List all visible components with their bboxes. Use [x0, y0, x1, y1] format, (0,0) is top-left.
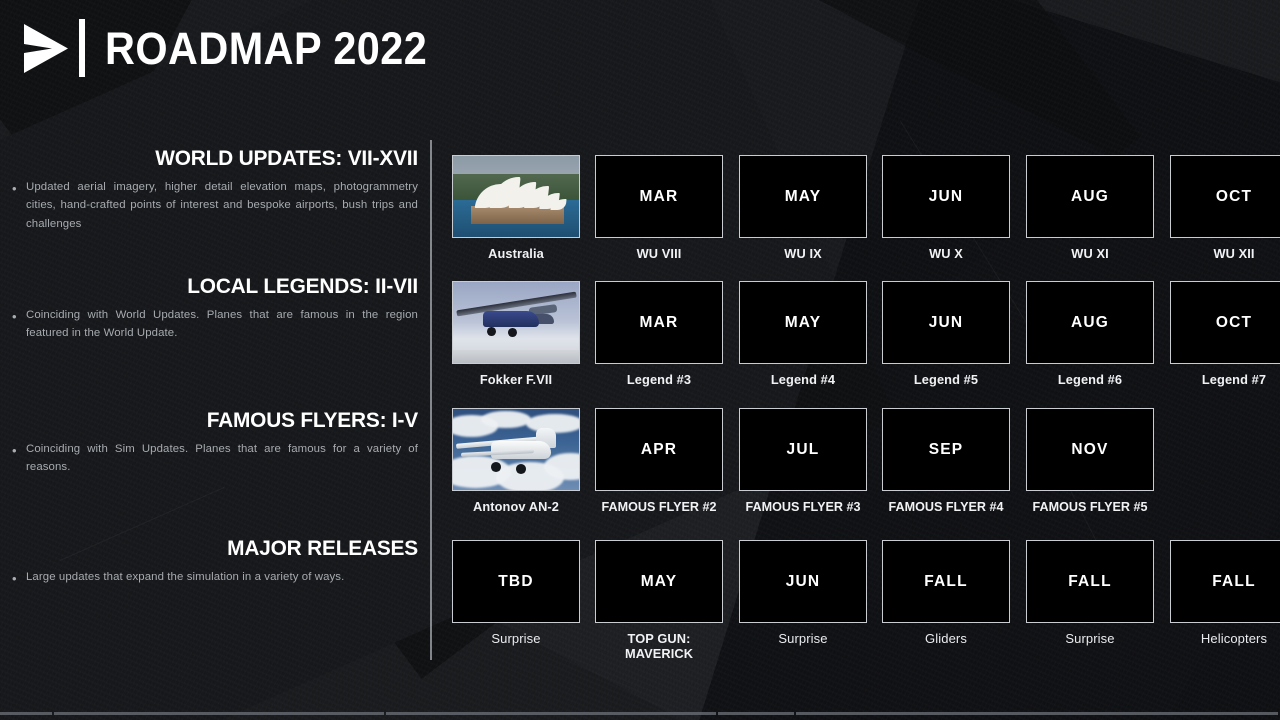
card-caption: Gliders	[882, 632, 1010, 647]
card-caption: FAMOUS FLYER #2	[595, 500, 723, 514]
card-month: AUG	[1071, 188, 1109, 206]
roadmap-card[interactable]: JUL	[739, 408, 867, 491]
bullet-icon: •	[0, 440, 26, 477]
roadmap-cell[interactable]: Fokker F.VII	[452, 281, 580, 388]
section-famous-flyers: FAMOUS FLYERS: I-V • Coinciding with Sim…	[0, 408, 430, 477]
roadmap-card[interactable]	[452, 281, 580, 364]
card-caption: WU VIII	[595, 247, 723, 262]
card-month: FALL	[924, 573, 968, 591]
roadmap-cell[interactable]: SEP FAMOUS FLYER #4	[882, 408, 1010, 514]
card-caption: WU XI	[1026, 247, 1154, 262]
roadmap-card[interactable]: AUG	[1026, 281, 1154, 364]
roadmap-card[interactable]: MAR	[595, 155, 723, 238]
roadmap-card[interactable]: JUN	[882, 155, 1010, 238]
roadmap-cell[interactable]: MAR WU VIII	[595, 155, 723, 262]
section-description: Updated aerial imagery, higher detail el…	[26, 178, 418, 233]
card-month: TBD	[498, 573, 533, 591]
roadmap-cell[interactable]: AUG Legend #6	[1026, 281, 1154, 388]
section-title: LOCAL LEGENDS: II-VII	[13, 274, 418, 299]
roadmap-cell[interactable]: MAR Legend #3	[595, 281, 723, 388]
card-caption: Legend #4	[739, 373, 867, 388]
roadmap-cell[interactable]: AUG WU XI	[1026, 155, 1154, 262]
progress-segment[interactable]	[54, 712, 384, 715]
roadmap-cell[interactable]: TBD Surprise	[452, 540, 580, 647]
roadmap-cell[interactable]: NOV FAMOUS FLYER #5	[1026, 408, 1154, 514]
roadmap-card[interactable]: FALL	[1026, 540, 1154, 623]
roadmap-cell[interactable]: JUN Legend #5	[882, 281, 1010, 388]
card-month: MAY	[785, 188, 822, 206]
progress-segment[interactable]	[718, 712, 794, 715]
roadmap-cell[interactable]: JUN Surprise	[739, 540, 867, 647]
roadmap-cell[interactable]: JUN WU X	[882, 155, 1010, 262]
card-caption: Legend #7	[1170, 373, 1280, 388]
progress-segment[interactable]	[386, 712, 716, 715]
roadmap-cell[interactable]: OCT Legend #7	[1170, 281, 1280, 388]
roadmap-card[interactable]	[452, 408, 580, 491]
card-caption: Legend #5	[882, 373, 1010, 388]
vertical-divider	[430, 140, 432, 660]
section-major-releases: MAJOR RELEASES • Large updates that expa…	[0, 536, 430, 586]
roadmap-cell[interactable]: FALL Surprise	[1026, 540, 1154, 647]
card-caption: FAMOUS FLYER #4	[882, 500, 1010, 514]
page-title: ROADMAP 2022	[105, 26, 427, 71]
section-title: MAJOR RELEASES	[13, 536, 418, 561]
roadmap-card[interactable]: TBD	[452, 540, 580, 623]
card-caption: Legend #3	[595, 373, 723, 388]
roadmap-card[interactable]: OCT	[1170, 281, 1280, 364]
chevron-right-icon	[18, 20, 70, 76]
section-title: FAMOUS FLYERS: I-V	[13, 408, 418, 433]
bullet-icon: •	[0, 568, 26, 586]
roadmap-cell[interactable]: Australia	[452, 155, 580, 262]
section-description: Coinciding with Sim Updates. Planes that…	[26, 440, 418, 477]
roadmap-cell[interactable]: OCT WU XII	[1170, 155, 1280, 262]
fokker-fvii-image	[453, 282, 579, 363]
roadmap-cell[interactable]: MAY WU IX	[739, 155, 867, 262]
roadmap-card[interactable]: APR	[595, 408, 723, 491]
bullet-icon: •	[0, 306, 26, 343]
card-caption: Australia	[452, 247, 580, 262]
legend-column: WORLD UPDATES: VII-XVII • Updated aerial…	[0, 118, 430, 678]
card-caption: WU XII	[1170, 247, 1280, 262]
card-month: FALL	[1068, 573, 1112, 591]
vertical-bar-icon	[79, 19, 85, 77]
card-caption: FAMOUS FLYER #5	[1026, 500, 1154, 514]
section-description: Coinciding with World Updates. Planes th…	[26, 306, 418, 343]
card-caption: Surprise	[1026, 632, 1154, 647]
section-local-legends: LOCAL LEGENDS: II-VII • Coinciding with …	[0, 274, 430, 343]
card-month: OCT	[1216, 188, 1252, 206]
roadmap-card[interactable]: OCT	[1170, 155, 1280, 238]
card-caption: Surprise	[452, 632, 580, 647]
card-caption: FAMOUS FLYER #3	[739, 500, 867, 514]
card-caption: TOP GUN: MAVERICK	[595, 632, 723, 661]
roadmap-card[interactable]: AUG	[1026, 155, 1154, 238]
roadmap-card[interactable]: MAY	[595, 540, 723, 623]
roadmap-cell[interactable]: FALL Helicopters	[1170, 540, 1280, 647]
antonov-an2-image	[453, 409, 579, 490]
card-month: APR	[641, 441, 677, 459]
page-header: ROADMAP 2022	[0, 0, 1280, 96]
roadmap-card[interactable]: JUN	[739, 540, 867, 623]
card-month: FALL	[1212, 573, 1256, 591]
roadmap-card[interactable]: NOV	[1026, 408, 1154, 491]
section-description: Large updates that expand the simulation…	[26, 568, 418, 586]
roadmap-card[interactable]: MAY	[739, 281, 867, 364]
card-month: JUN	[786, 573, 821, 591]
roadmap-card[interactable]: SEP	[882, 408, 1010, 491]
section-world-updates: WORLD UPDATES: VII-XVII • Updated aerial…	[0, 146, 430, 233]
sydney-opera-house-image	[453, 156, 579, 237]
card-month: JUN	[929, 188, 964, 206]
roadmap-card[interactable]: JUN	[882, 281, 1010, 364]
card-caption: Fokker F.VII	[452, 373, 580, 388]
card-month: NOV	[1071, 441, 1108, 459]
roadmap-card[interactable]	[452, 155, 580, 238]
roadmap-cell[interactable]: JUL FAMOUS FLYER #3	[739, 408, 867, 514]
video-progress-bar[interactable]	[0, 711, 1280, 715]
roadmap-card[interactable]: MAY	[739, 155, 867, 238]
progress-segment[interactable]	[0, 712, 52, 715]
roadmap-card[interactable]: MAR	[595, 281, 723, 364]
card-month: OCT	[1216, 314, 1252, 332]
card-caption: WU X	[882, 247, 1010, 262]
card-caption: Helicopters	[1170, 632, 1280, 647]
progress-segment[interactable]	[796, 712, 1278, 715]
roadmap-cell[interactable]: APR FAMOUS FLYER #2	[595, 408, 723, 514]
roadmap-cell[interactable]: Antonov AN-2	[452, 408, 580, 515]
card-month: MAY	[785, 314, 822, 332]
brand-logo	[18, 19, 105, 77]
card-month: JUN	[929, 314, 964, 332]
card-month: AUG	[1071, 314, 1109, 332]
card-month: JUL	[787, 441, 820, 459]
bullet-icon: •	[0, 178, 26, 233]
roadmap-cell[interactable]: FALL Gliders	[882, 540, 1010, 647]
roadmap-card[interactable]: FALL	[882, 540, 1010, 623]
card-caption: Surprise	[739, 632, 867, 647]
card-month: MAY	[641, 573, 678, 591]
section-title: WORLD UPDATES: VII-XVII	[13, 146, 418, 171]
card-month: MAR	[640, 314, 679, 332]
card-caption: WU IX	[739, 247, 867, 262]
roadmap-cell[interactable]: MAY TOP GUN: MAVERICK	[595, 540, 723, 661]
card-caption: Antonov AN-2	[452, 500, 580, 515]
roadmap-cell[interactable]: MAY Legend #4	[739, 281, 867, 388]
card-month: MAR	[640, 188, 679, 206]
card-caption: Legend #6	[1026, 373, 1154, 388]
card-month: SEP	[929, 441, 964, 459]
roadmap-card[interactable]: FALL	[1170, 540, 1280, 623]
